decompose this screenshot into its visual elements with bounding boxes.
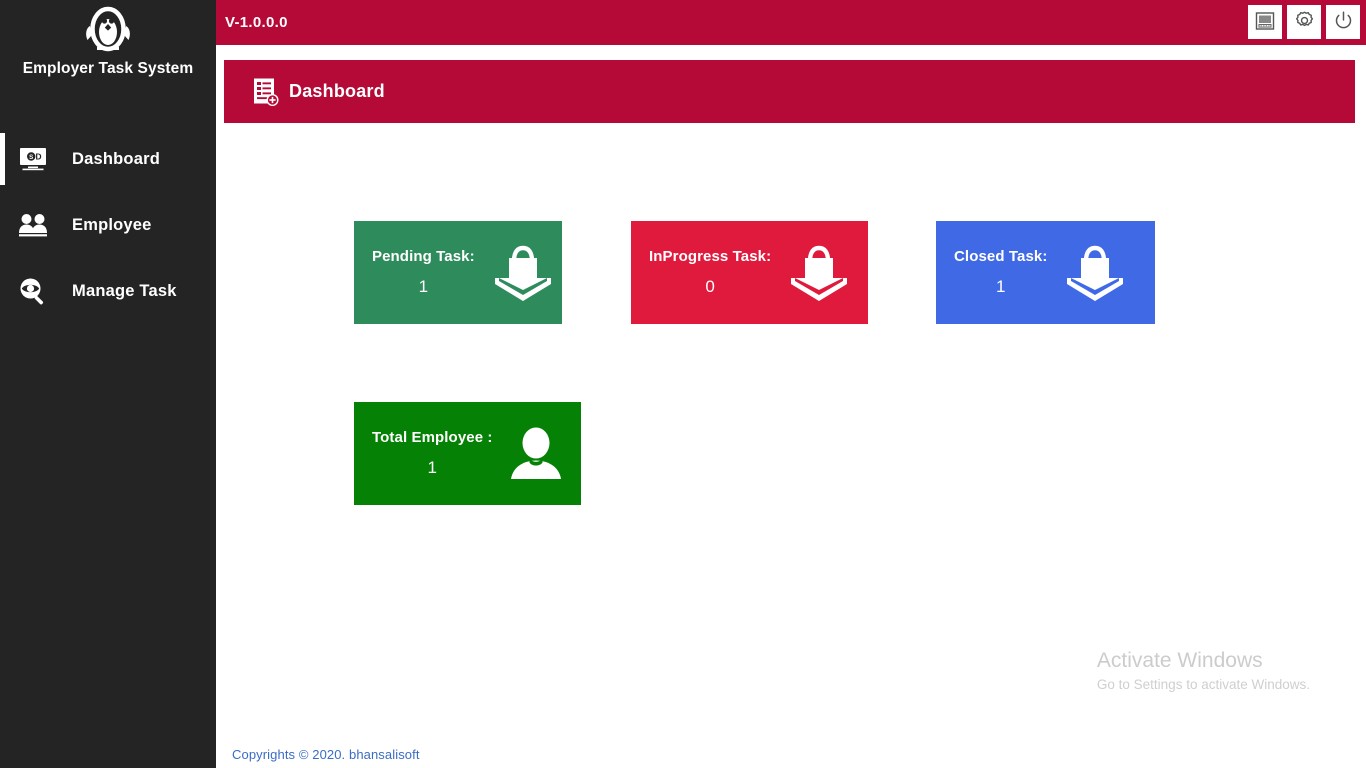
tile-value: 1 xyxy=(954,277,1047,297)
sidebar: Employer Task System S D Dashboard xyxy=(0,0,216,768)
topbar: V-1.0.0.0 xyxy=(216,0,1366,45)
shopping-bag-down-icon xyxy=(485,237,561,309)
footer-copyright: Copyrights © 2020. bhansalisoft xyxy=(232,747,420,762)
shopping-bag-down-icon xyxy=(781,237,857,309)
screen-button[interactable] xyxy=(1248,5,1282,39)
sidebar-item-employee[interactable]: Employee xyxy=(0,192,216,258)
tile-value: 1 xyxy=(372,277,475,297)
user-silhouette-icon xyxy=(503,421,569,487)
tile-inprogress-task[interactable]: InProgress Task: 0 xyxy=(631,221,868,324)
tile-row: Total Employee : 1 xyxy=(354,402,1254,505)
tile-total-employee[interactable]: Total Employee : 1 xyxy=(354,402,581,505)
tile-row: Pending Task: 1 InProgress Task: xyxy=(354,221,1254,324)
sidebar-nav: S D Dashboard xyxy=(0,126,216,324)
tile-pending-task[interactable]: Pending Task: 1 xyxy=(354,221,562,324)
power-icon xyxy=(1333,10,1354,34)
brand: Employer Task System xyxy=(0,0,216,78)
people-icon xyxy=(14,208,52,242)
power-button[interactable] xyxy=(1326,5,1360,39)
tile-value: 1 xyxy=(372,458,493,478)
sidebar-item-label: Dashboard xyxy=(72,150,160,169)
watermark-subtitle: Go to Settings to activate Windows. xyxy=(1097,677,1310,692)
tile-label: Closed Task: xyxy=(954,248,1047,265)
tile-label: InProgress Task: xyxy=(649,248,771,265)
shopping-bag-down-icon xyxy=(1057,237,1133,309)
penguin-logo-icon xyxy=(78,4,138,54)
page-title: Dashboard xyxy=(289,81,385,102)
document-list-add-icon xyxy=(252,77,280,107)
active-indicator xyxy=(0,133,5,185)
sidebar-item-dashboard[interactable]: S D Dashboard xyxy=(0,126,216,192)
tile-label: Total Employee : xyxy=(372,429,493,446)
brand-title: Employer Task System xyxy=(0,60,216,78)
tile-text: Closed Task: 1 xyxy=(936,248,1053,297)
tile-text: Pending Task: 1 xyxy=(354,248,481,297)
application-window: Employer Task System S D Dashboard xyxy=(0,0,1366,768)
tile-label: Pending Task: xyxy=(372,248,475,265)
windows-activation-watermark: Activate Windows Go to Settings to activ… xyxy=(1097,648,1310,692)
page-header-card: Dashboard xyxy=(224,60,1355,123)
svg-text:S: S xyxy=(29,154,33,161)
tile-text: Total Employee : 1 xyxy=(354,429,499,478)
gear-icon xyxy=(1294,10,1315,34)
dashboard-tiles: Pending Task: 1 InProgress Task: xyxy=(354,221,1254,583)
sidebar-item-label: Manage Task xyxy=(72,282,177,301)
tile-closed-task[interactable]: Closed Task: 1 xyxy=(936,221,1155,324)
tile-text: InProgress Task: 0 xyxy=(631,248,777,297)
version-label: V-1.0.0.0 xyxy=(225,14,288,31)
monitor-icon xyxy=(1255,11,1275,34)
dashboard-monitor-icon: S D xyxy=(14,142,52,176)
topbar-actions xyxy=(1248,5,1360,39)
search-eye-icon xyxy=(14,274,52,308)
sidebar-item-label: Employee xyxy=(72,216,152,235)
sidebar-item-manage-task[interactable]: Manage Task xyxy=(0,258,216,324)
svg-text:D: D xyxy=(35,152,41,162)
settings-button[interactable] xyxy=(1287,5,1321,39)
tile-value: 0 xyxy=(649,277,771,297)
watermark-title: Activate Windows xyxy=(1097,648,1310,674)
